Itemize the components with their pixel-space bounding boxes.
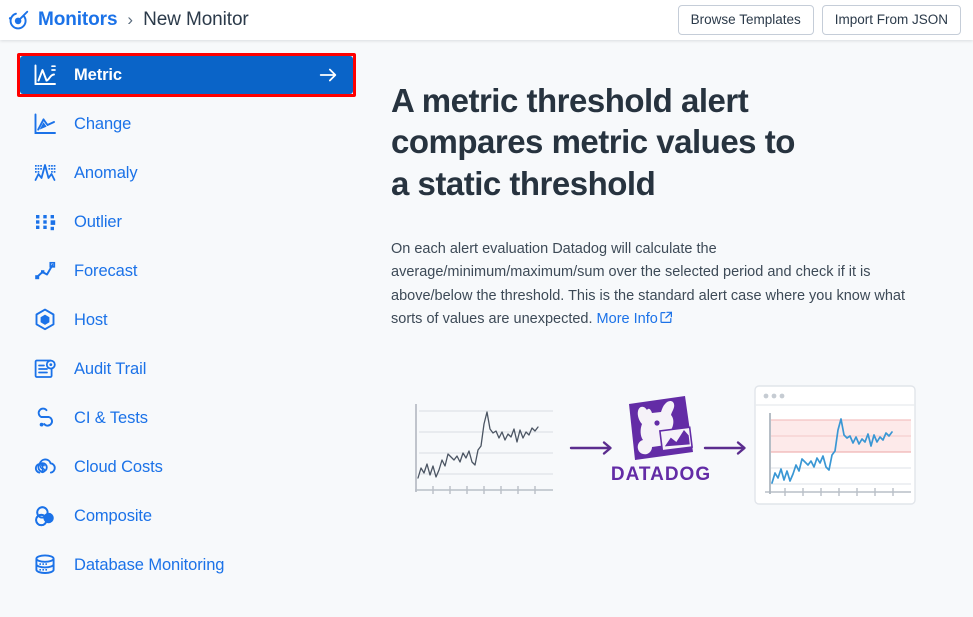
- illustration-svg: DATADOG: [413, 380, 925, 510]
- new-monitor-page: Monitors › New Monitor Browse Templates …: [0, 0, 973, 617]
- breadcrumb-monitors-link[interactable]: Monitors: [38, 9, 117, 31]
- sidebar-item-label: Cloud Costs: [74, 458, 163, 477]
- more-info-link[interactable]: More Info: [597, 311, 673, 327]
- sidebar-item-anomaly[interactable]: Anomaly: [20, 154, 353, 192]
- import-from-json-button[interactable]: Import From JSON: [822, 5, 961, 36]
- sidebar-item-label: Database Monitoring: [74, 556, 224, 575]
- alerting-metric-line-chart-with-threshold-band: [755, 386, 915, 504]
- sidebar-item-label: Outlier: [74, 213, 122, 232]
- datadog-monitors-target-icon: [8, 9, 30, 31]
- host-hexagon-icon: [32, 307, 58, 333]
- metric-chart-icon: [32, 62, 58, 88]
- breadcrumb-separator-icon: ›: [125, 10, 135, 30]
- arrow-right-icon: [571, 442, 611, 453]
- sidebar-item-label: Anomaly: [74, 164, 138, 183]
- sidebar-item-label: Composite: [74, 507, 152, 526]
- more-info-label: More Info: [597, 311, 658, 327]
- forecast-trend-icon: [32, 258, 58, 284]
- anomaly-spike-icon: [32, 160, 58, 186]
- datadog-wordmark: DATADOG: [611, 464, 711, 485]
- sidebar-item-label: Audit Trail: [74, 360, 146, 379]
- monitor-type-title: A metric threshold alert compares metric…: [391, 80, 821, 204]
- sidebar-item-change[interactable]: Change: [20, 105, 353, 143]
- monitor-flow-illustration: DATADOG: [391, 380, 933, 510]
- breadcrumb: Monitors › New Monitor: [8, 9, 678, 31]
- page-body: Metric Change: [0, 40, 973, 617]
- sidebar-item-composite[interactable]: Composite: [20, 497, 353, 535]
- outlier-dot-grid-icon: [32, 209, 58, 235]
- sidebar-item-forecast[interactable]: Forecast: [20, 252, 353, 290]
- arrow-right-icon: [317, 64, 339, 86]
- monitor-type-description-panel: A metric threshold alert compares metric…: [369, 40, 973, 617]
- sidebar-item-label: Change: [74, 115, 131, 134]
- header-actions: Browse Templates Import From JSON: [678, 5, 961, 36]
- selection-highlight-box: [17, 53, 356, 97]
- page-header: Monitors › New Monitor Browse Templates …: [0, 0, 973, 40]
- external-link-icon: [660, 311, 673, 324]
- composite-venn-icon: [32, 503, 58, 529]
- sidebar-item-label: Forecast: [74, 262, 137, 281]
- sidebar-item-ci-tests[interactable]: CI & Tests: [20, 399, 353, 437]
- sidebar-item-outlier[interactable]: Outlier: [20, 203, 353, 241]
- monitor-type-sidebar: Metric Change: [0, 40, 369, 617]
- audit-trail-document-icon: [32, 356, 58, 382]
- sidebar-item-host[interactable]: Host: [20, 301, 353, 339]
- ci-tests-pipeline-icon: [32, 405, 58, 431]
- database-icon: [32, 552, 58, 578]
- sidebar-item-label: Host: [74, 311, 108, 330]
- sidebar-item-label: Metric: [74, 66, 122, 85]
- browse-templates-button[interactable]: Browse Templates: [678, 5, 814, 36]
- datadog-dog-logo: DATADOG: [611, 396, 711, 485]
- page-title: New Monitor: [143, 9, 249, 31]
- change-area-chart-icon: [32, 111, 58, 137]
- arrow-right-icon: [705, 442, 745, 453]
- sidebar-item-cloud-costs[interactable]: Cloud Costs: [20, 448, 353, 486]
- sidebar-item-metric[interactable]: Metric: [20, 56, 353, 94]
- sidebar-item-label: CI & Tests: [74, 409, 148, 428]
- raw-metric-line-chart: [415, 404, 553, 494]
- sidebar-item-audit-trail[interactable]: Audit Trail: [20, 350, 353, 388]
- sidebar-item-database-monitoring[interactable]: Database Monitoring: [20, 546, 353, 584]
- monitor-type-description: On each alert evaluation Datadog will ca…: [391, 238, 921, 332]
- cloud-cost-icon: [32, 454, 58, 480]
